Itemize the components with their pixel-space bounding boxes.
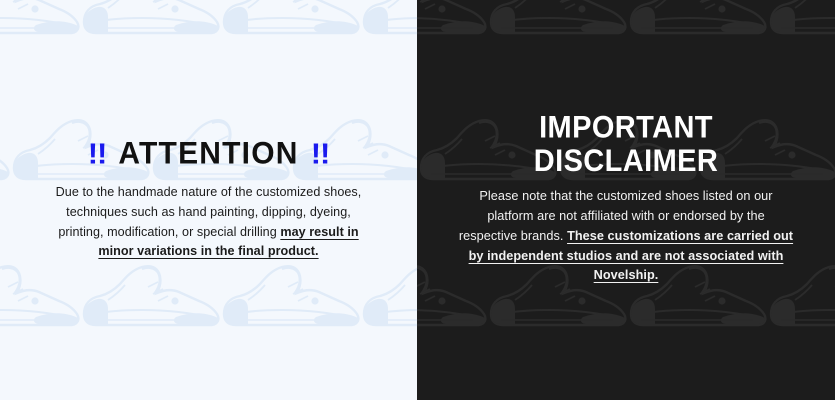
attention-panel: !! ATTENTION !! Due to the handmade natu… — [0, 0, 417, 400]
disclaimer-panel: IMPORTANT DISCLAIMER Please note that th… — [417, 0, 835, 400]
disclaimer-heading: IMPORTANT DISCLAIMER — [457, 111, 795, 177]
exclamation-marks-left-icon: !! — [88, 139, 106, 169]
attention-heading: !! ATTENTION !! — [46, 138, 371, 170]
exclamation-marks-right-icon: !! — [310, 139, 328, 169]
disclaimer-heading-line-1: IMPORTANT — [457, 111, 795, 144]
disclaimer-content: IMPORTANT DISCLAIMER Please note that th… — [417, 114, 835, 287]
promo-disclaimer-banner: !! ATTENTION !! Due to the handmade natu… — [0, 0, 835, 400]
disclaimer-body-text: Please note that the customized shoes li… — [457, 187, 795, 286]
disclaimer-heading-line-2: DISCLAIMER — [457, 144, 795, 177]
attention-content: !! ATTENTION !! Due to the handmade natu… — [0, 138, 417, 262]
attention-heading-text: ATTENTION — [118, 137, 298, 170]
attention-body-text: Due to the handmade nature of the custom… — [46, 183, 371, 262]
